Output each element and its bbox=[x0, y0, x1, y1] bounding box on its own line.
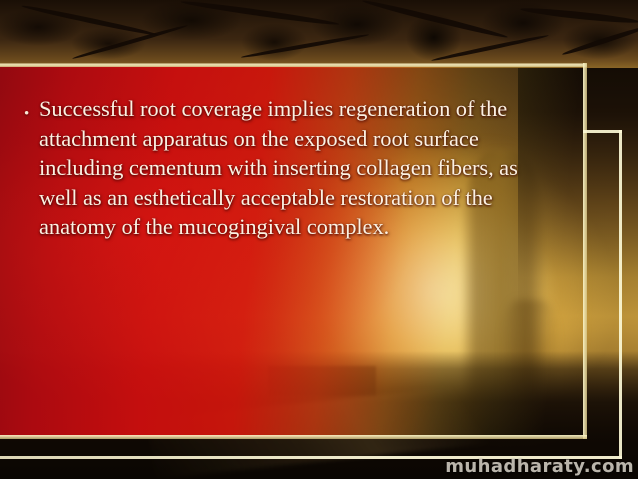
bullet-list-item: • Successful root coverage implies regen… bbox=[24, 94, 552, 242]
slide-body: • Successful root coverage implies regen… bbox=[24, 94, 552, 242]
frame-line-top bbox=[0, 63, 587, 67]
bullet-point-icon: • bbox=[24, 107, 39, 122]
branch-icon bbox=[241, 33, 370, 60]
branch-icon bbox=[561, 24, 638, 57]
frame-line-right bbox=[583, 63, 587, 439]
branch-icon bbox=[362, 0, 509, 40]
branch-icon bbox=[180, 0, 339, 27]
outer-frame-line-top bbox=[583, 130, 622, 133]
frame-line-bottom bbox=[0, 435, 587, 439]
branch-icon bbox=[21, 4, 159, 38]
presentation-slide: • Successful root coverage implies regen… bbox=[0, 0, 638, 479]
outer-frame-line-right bbox=[619, 130, 622, 459]
branch-icon bbox=[431, 34, 549, 63]
branch-icon bbox=[520, 6, 638, 26]
watermark: muhadharaty.com bbox=[445, 456, 634, 477]
body-paragraph: Successful root coverage implies regener… bbox=[39, 94, 552, 242]
tree-canopy-band bbox=[0, 0, 638, 68]
